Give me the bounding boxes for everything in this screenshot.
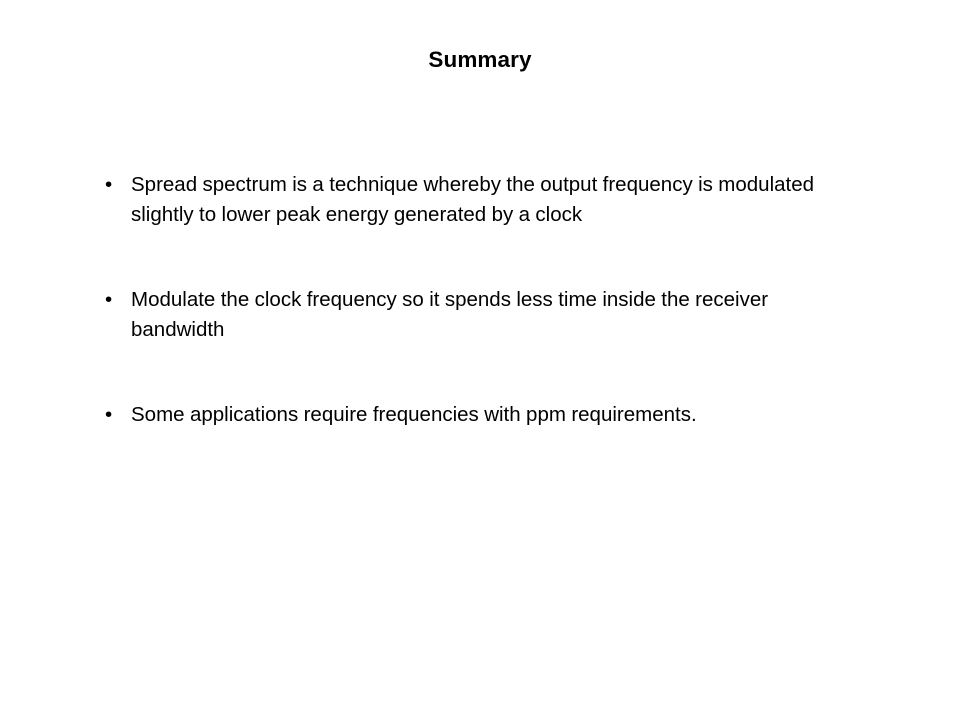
list-item-text: Spread spectrum is a technique whereby t… xyxy=(131,170,821,229)
list-item: • Some applications require frequencies … xyxy=(105,400,835,430)
list-item-text: Some applications require frequencies wi… xyxy=(131,400,821,430)
slide-canvas: Summary • Spread spectrum is a technique… xyxy=(0,0,960,720)
bullet-dot-icon: • xyxy=(105,285,131,315)
page-title: Summary xyxy=(0,48,960,73)
list-item: • Spread spectrum is a technique whereby… xyxy=(105,170,835,229)
bullet-dot-icon: • xyxy=(105,170,131,200)
list-item-text: Modulate the clock frequency so it spend… xyxy=(131,285,821,344)
bullet-dot-icon: • xyxy=(105,400,131,430)
list-item: • Modulate the clock frequency so it spe… xyxy=(105,285,835,344)
bullet-list: • Spread spectrum is a technique whereby… xyxy=(105,170,835,430)
